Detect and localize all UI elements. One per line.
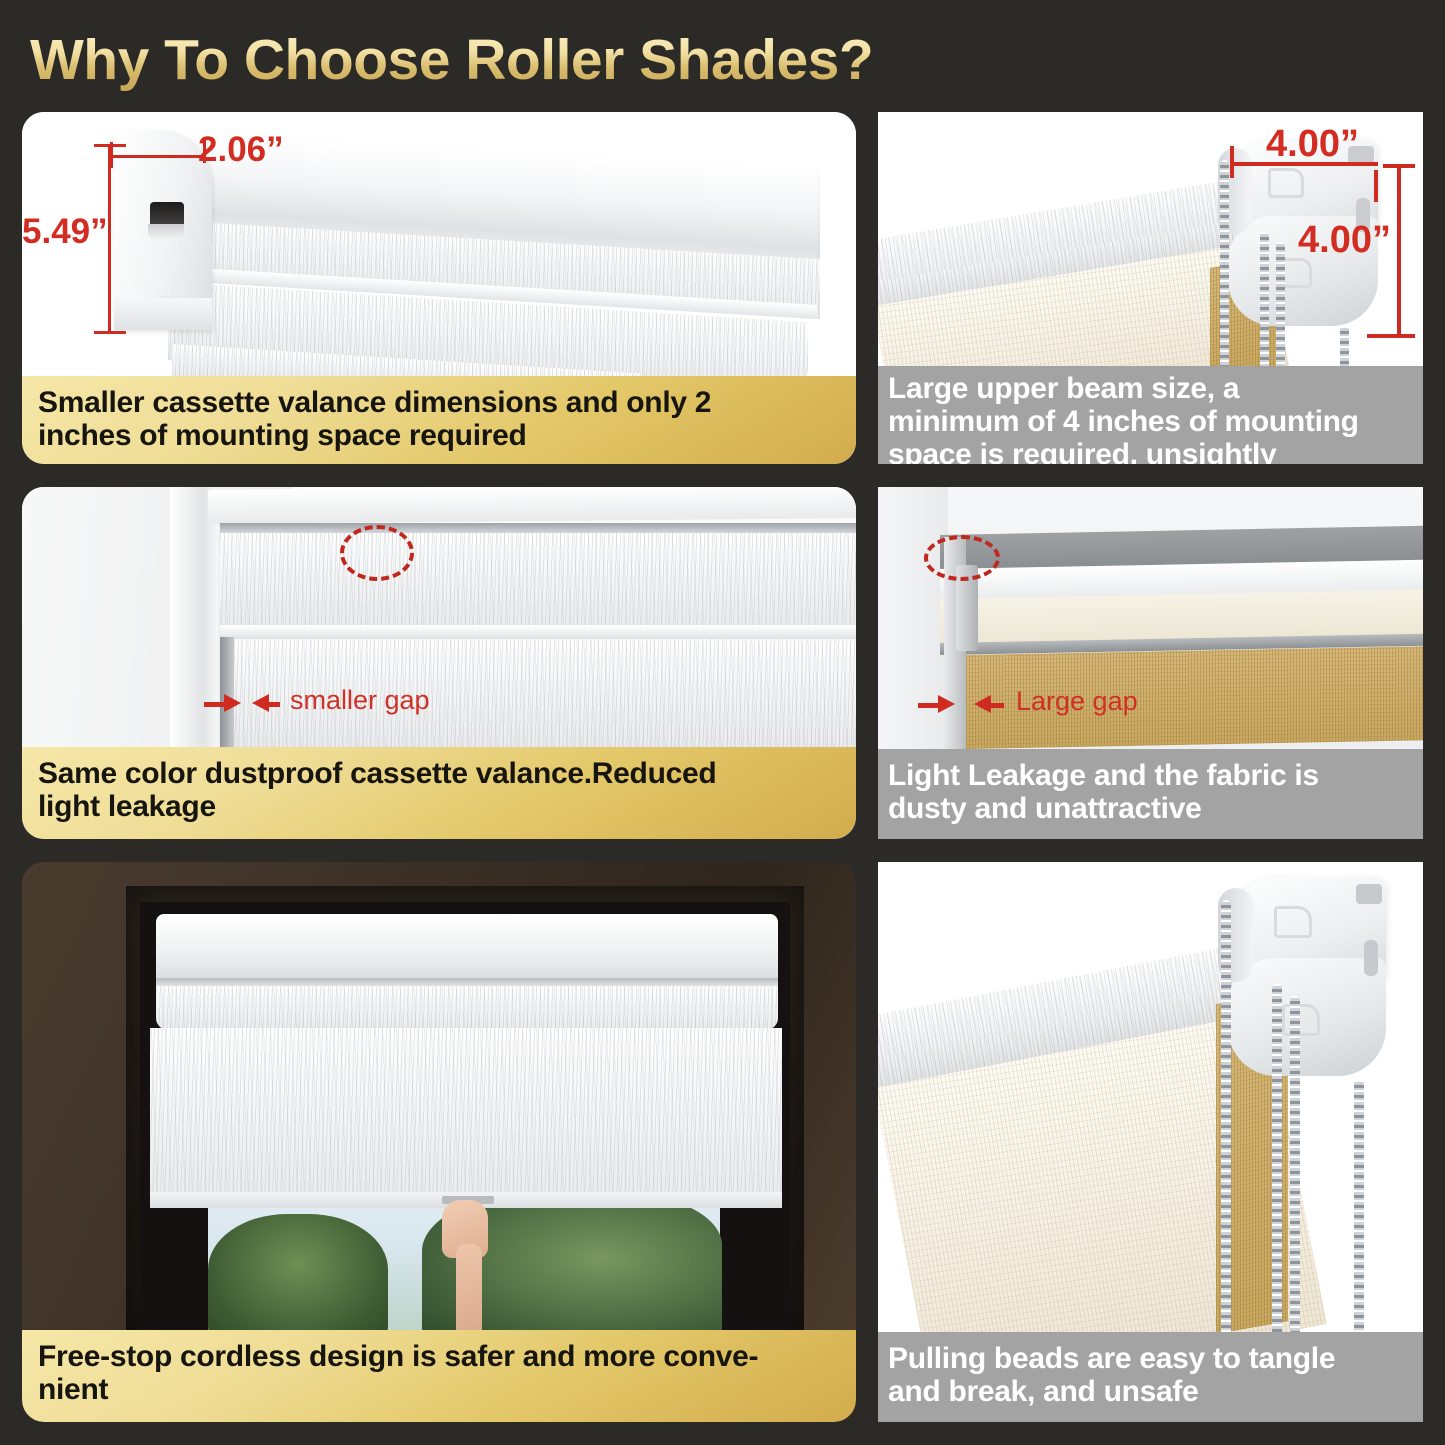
panel-2-left-caption: Same color dustproof cassette valance.Re… bbox=[22, 747, 856, 839]
bracket-mount-slot-2 bbox=[1364, 940, 1378, 976]
bracket-logo-icon-1 bbox=[1268, 168, 1304, 198]
panel-2-right-caption-text: Light Leakage and the fabric is dusty an… bbox=[888, 759, 1319, 825]
valance-top-edge bbox=[220, 523, 856, 533]
width-dimension-tick-left bbox=[1230, 146, 1234, 178]
window-view-tree-left bbox=[208, 1214, 388, 1340]
panel-3-right-caption-text: Pulling beads are easy to tangle and bre… bbox=[888, 1342, 1335, 1408]
infographic-root: Why To Choose Roller Shades? 5.49” bbox=[0, 0, 1445, 1445]
panel-2-right-caption: Light Leakage and the fabric is dusty an… bbox=[878, 749, 1423, 839]
bead-chain-3[interactable] bbox=[1290, 996, 1300, 1340]
panel-2-left: smaller gap Same color dustproof cassett… bbox=[22, 487, 856, 839]
bead-chain-1[interactable] bbox=[1221, 900, 1231, 1340]
panel-2-right-photo: Large gap bbox=[878, 487, 1423, 749]
height-dimension-tick-bottom bbox=[1367, 334, 1415, 338]
width-dimension-tick-left bbox=[110, 142, 113, 168]
height-dimension-label: 5.49” bbox=[22, 212, 108, 252]
bead-chain-3[interactable] bbox=[1276, 242, 1285, 377]
bead-chain-1[interactable] bbox=[1220, 160, 1229, 377]
width-dimension-line bbox=[110, 155, 206, 158]
highlight-circle-icon bbox=[340, 525, 414, 581]
headrail-roller bbox=[156, 986, 778, 1030]
page-title: Why To Choose Roller Shades? bbox=[30, 24, 1030, 96]
gap-callout-label: smaller gap bbox=[290, 685, 430, 716]
height-dimension-label: 4.00” bbox=[1298, 219, 1391, 262]
panel-2-right: Large gap Light Leakage and the fabric i… bbox=[878, 487, 1423, 839]
panel-1-left: 5.49” 2.06” Smaller cassette valance dim… bbox=[22, 112, 856, 464]
panel-1-right-photo: 4.00” 4.00” bbox=[878, 112, 1423, 377]
highlight-circle-icon bbox=[924, 535, 1000, 581]
panel-3-right-photo bbox=[878, 862, 1423, 1340]
forearm bbox=[456, 1244, 482, 1340]
bracket-foot bbox=[114, 298, 212, 330]
panel-3-left-caption-text: Free-stop cordless design is safer and m… bbox=[38, 1340, 758, 1406]
height-dimension-line bbox=[108, 144, 111, 334]
bead-chain-4[interactable] bbox=[1354, 1080, 1364, 1340]
bracket-logo-icon-2 bbox=[1282, 1004, 1320, 1036]
panel-3-right: Pulling beads are easy to tangle and bre… bbox=[878, 862, 1423, 1422]
panel-3-left: Free-stop cordless design is safer and m… bbox=[22, 862, 856, 1422]
panel-2-left-caption-text: Same color dustproof cassette valance.Re… bbox=[38, 757, 716, 823]
width-dimension-tick-right bbox=[1374, 170, 1378, 202]
panel-3-left-photo bbox=[22, 862, 856, 1340]
width-dimension-label: 4.00” bbox=[1266, 123, 1359, 166]
bracket-mount-slot-1 bbox=[1356, 884, 1382, 904]
height-dimension-tick-top bbox=[1383, 164, 1415, 168]
gap-callout-label: Large gap bbox=[1016, 686, 1138, 717]
height-dimension-line bbox=[1397, 164, 1401, 338]
panel-1-left-photo: 5.49” 2.06” bbox=[22, 112, 856, 376]
headrail bbox=[156, 914, 778, 982]
panel-3-left-caption: Free-stop cordless design is safer and m… bbox=[22, 1330, 856, 1422]
bracket-slot-lip bbox=[148, 224, 184, 240]
shade-fabric bbox=[150, 1028, 782, 1204]
valance-face bbox=[220, 533, 856, 629]
bead-chain-2[interactable] bbox=[1272, 984, 1282, 1340]
window-casing-top bbox=[208, 487, 856, 524]
panel-1-left-caption-text: Smaller cassette valance dimensions and … bbox=[38, 386, 711, 452]
panel-1-right: 4.00” 4.00” Large upper beam size, a min… bbox=[878, 112, 1423, 464]
width-dimension-label: 2.06” bbox=[198, 130, 284, 170]
panel-3-right-caption: Pulling beads are easy to tangle and bre… bbox=[878, 1332, 1423, 1422]
panel-1-left-caption: Smaller cassette valance dimensions and … bbox=[22, 376, 856, 464]
height-dimension-tick-bottom bbox=[94, 331, 126, 334]
bead-chain-2[interactable] bbox=[1260, 232, 1269, 377]
bracket-logo-icon-1 bbox=[1274, 906, 1312, 938]
panel-1-right-caption-text: Large upper beam size, a minimum of 4 in… bbox=[888, 372, 1359, 464]
panel-2-left-photo: smaller gap bbox=[22, 487, 856, 747]
panel-1-right-caption: Large upper beam size, a minimum of 4 in… bbox=[878, 366, 1423, 464]
